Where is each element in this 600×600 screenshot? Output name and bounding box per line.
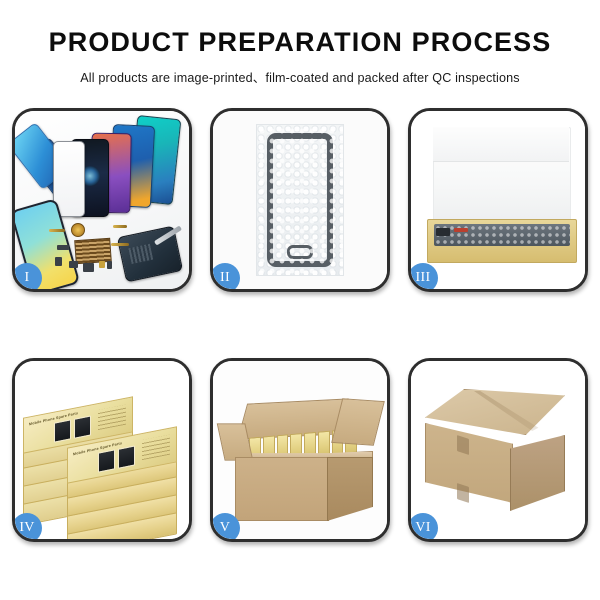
step-badge-4: IV xyxy=(15,513,42,539)
sealed-carton-front-face xyxy=(425,423,513,503)
step-badge-3: III xyxy=(411,263,438,289)
part-bracket-2 xyxy=(55,257,62,266)
process-steps-grid: I II xyxy=(12,108,588,542)
part-flex-strip-1 xyxy=(49,229,65,232)
page-title: PRODUCT PREPARATION PROCESS xyxy=(0,28,600,58)
step-badge-2: II xyxy=(213,263,240,289)
bubble-wrap-illustration xyxy=(213,111,387,289)
box-stack: Mobile Phone Spare Parts Mobile Phone Sp… xyxy=(23,377,187,527)
box-thumbnail-front-1 xyxy=(98,449,115,472)
step-badge-6: VI xyxy=(411,513,438,539)
phone-screen-assembly xyxy=(267,133,333,267)
carton-tape-mark-bottom xyxy=(457,483,469,503)
step-image-1: I xyxy=(15,111,189,289)
page-subtitle: All products are image-printed、film-coat… xyxy=(0,67,600,86)
step-image-3: III xyxy=(411,111,585,289)
sealed-carton-side-face xyxy=(510,435,565,511)
step-badge-5: V xyxy=(213,513,240,539)
box-thumbnail-rear-2 xyxy=(74,415,91,438)
part-speaker xyxy=(83,263,94,272)
phones-and-parts-illustration xyxy=(15,111,189,289)
bubble-wrap-sheet xyxy=(256,124,344,276)
step-panel-open-carton: V xyxy=(210,358,390,542)
carton-front-face xyxy=(235,457,329,521)
step-image-2: II xyxy=(213,111,387,289)
part-gold-contact xyxy=(99,261,105,268)
part-coil xyxy=(71,223,85,237)
stacked-boxes-illustration: Mobile Phone Spare Parts Mobile Phone Sp… xyxy=(15,361,189,539)
step-image-4: Mobile Phone Spare Parts Mobile Phone Sp… xyxy=(15,361,189,539)
part-flex-strip-3 xyxy=(111,243,129,246)
infographic-page: PRODUCT PREPARATION PROCESS All products… xyxy=(0,0,600,600)
step-image-5: V xyxy=(213,361,387,539)
step-panel-bubble-wrapped-screen: II xyxy=(210,108,390,292)
part-bracket-3 xyxy=(69,261,78,268)
foam-box-illustration xyxy=(411,111,585,289)
step-image-6: VI xyxy=(411,361,585,539)
carton-tape-mark-top xyxy=(457,435,469,455)
box-thumbnail-front-2 xyxy=(118,445,135,468)
box-tab-red xyxy=(454,228,468,232)
open-carton-illustration xyxy=(213,361,387,539)
box-thumbnail-rear-1 xyxy=(54,419,71,442)
part-bracket-1 xyxy=(57,245,69,250)
step-panel-sealed-carton: VI xyxy=(408,358,588,542)
foam-lid-flap xyxy=(433,127,569,162)
step-panel-phones-and-parts: I xyxy=(12,108,192,292)
part-chip-array xyxy=(74,238,112,264)
step-panel-boxed-with-foam: III xyxy=(408,108,588,292)
header: PRODUCT PREPARATION PROCESS All products… xyxy=(0,0,600,86)
step-panel-stacked-boxes: Mobile Phone Spare Parts Mobile Phone Sp… xyxy=(12,358,192,542)
part-button xyxy=(107,261,112,269)
box-spec-lines-front xyxy=(142,435,170,460)
box-tab-dark xyxy=(436,228,450,236)
carton-side-face xyxy=(327,457,373,521)
yellow-box-tray xyxy=(427,219,577,263)
step-badge-1: I xyxy=(15,263,42,289)
sealed-carton-illustration xyxy=(411,361,585,539)
box-spec-lines-rear xyxy=(98,405,126,430)
part-flex-strip-2 xyxy=(113,225,127,228)
